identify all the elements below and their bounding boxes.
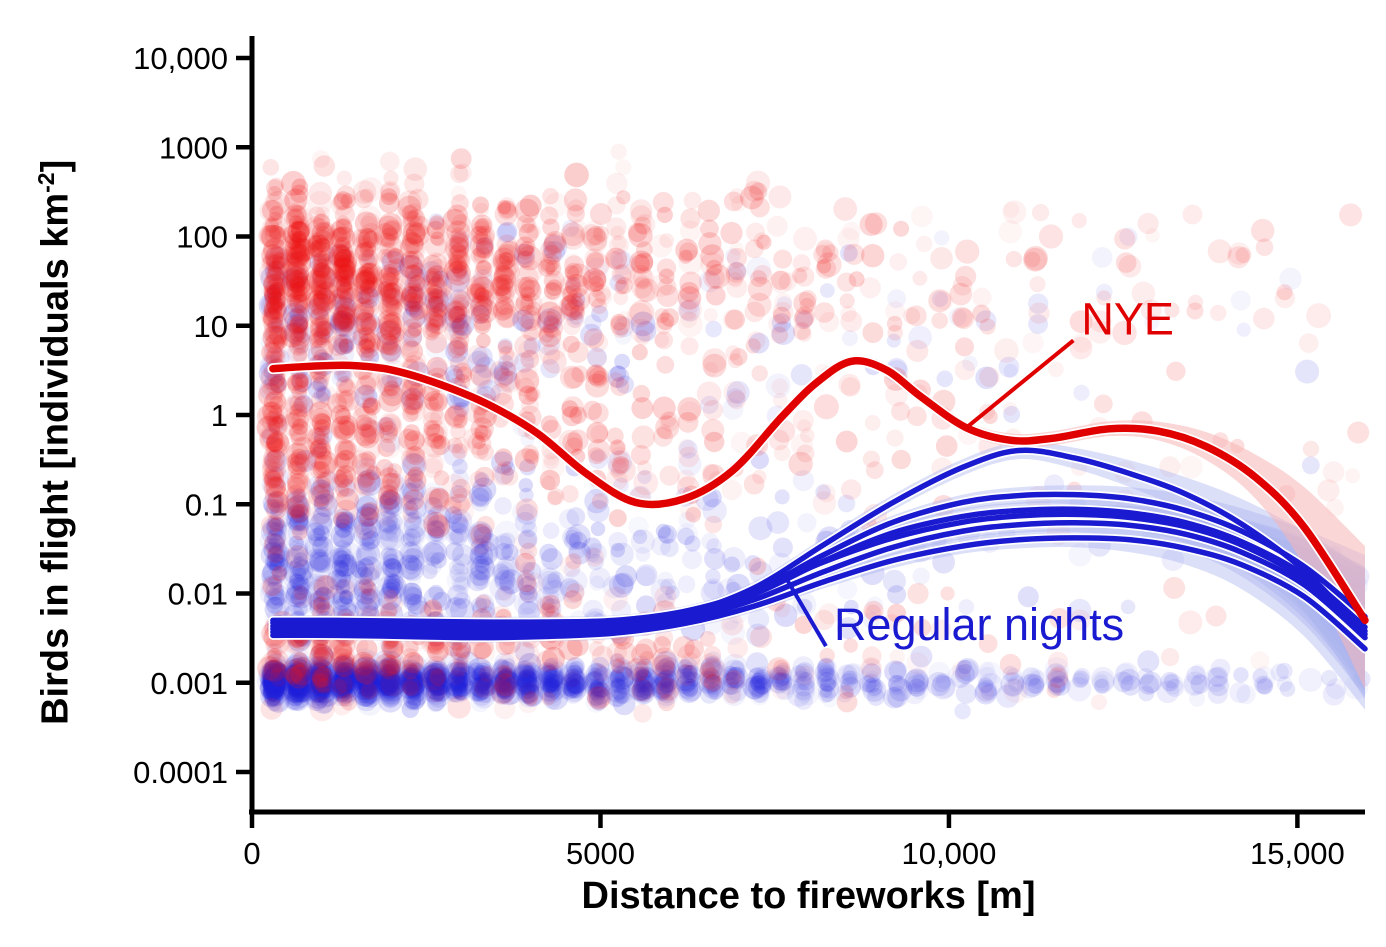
y-axis-tick-label: 1000: [159, 130, 228, 165]
x-axis-tick-label: 15,000: [1250, 836, 1345, 871]
regular-nights-label: Regular nights: [834, 599, 1124, 650]
chart-figure: 10,00010001001010.10.010.0010.0001050001…: [0, 0, 1386, 947]
annotation-leader-line: [966, 340, 1073, 427]
y-axis-tick-label: 0.1: [185, 487, 228, 522]
annotation-leader-line: [785, 577, 826, 647]
x-axis-tick-label: 10,000: [902, 836, 997, 871]
y-axis-tick-label: 0.001: [150, 666, 228, 701]
y-axis-tick-label: 100: [176, 220, 228, 255]
x-axis-tick-label: 5000: [566, 836, 635, 871]
y-axis-tick-label: 10: [194, 309, 228, 344]
y-axis-tick-label: 0.0001: [133, 755, 228, 790]
y-axis-tick-label: 10,000: [133, 41, 228, 76]
nye-label: NYE: [1081, 293, 1174, 344]
y-axis-tick-label: 1: [211, 398, 228, 433]
x-axis-tick-label: 0: [243, 836, 260, 871]
y-axis-tick-label: 0.01: [168, 577, 228, 612]
axes-layer: 10,00010001001010.10.010.0010.0001050001…: [0, 0, 1386, 947]
